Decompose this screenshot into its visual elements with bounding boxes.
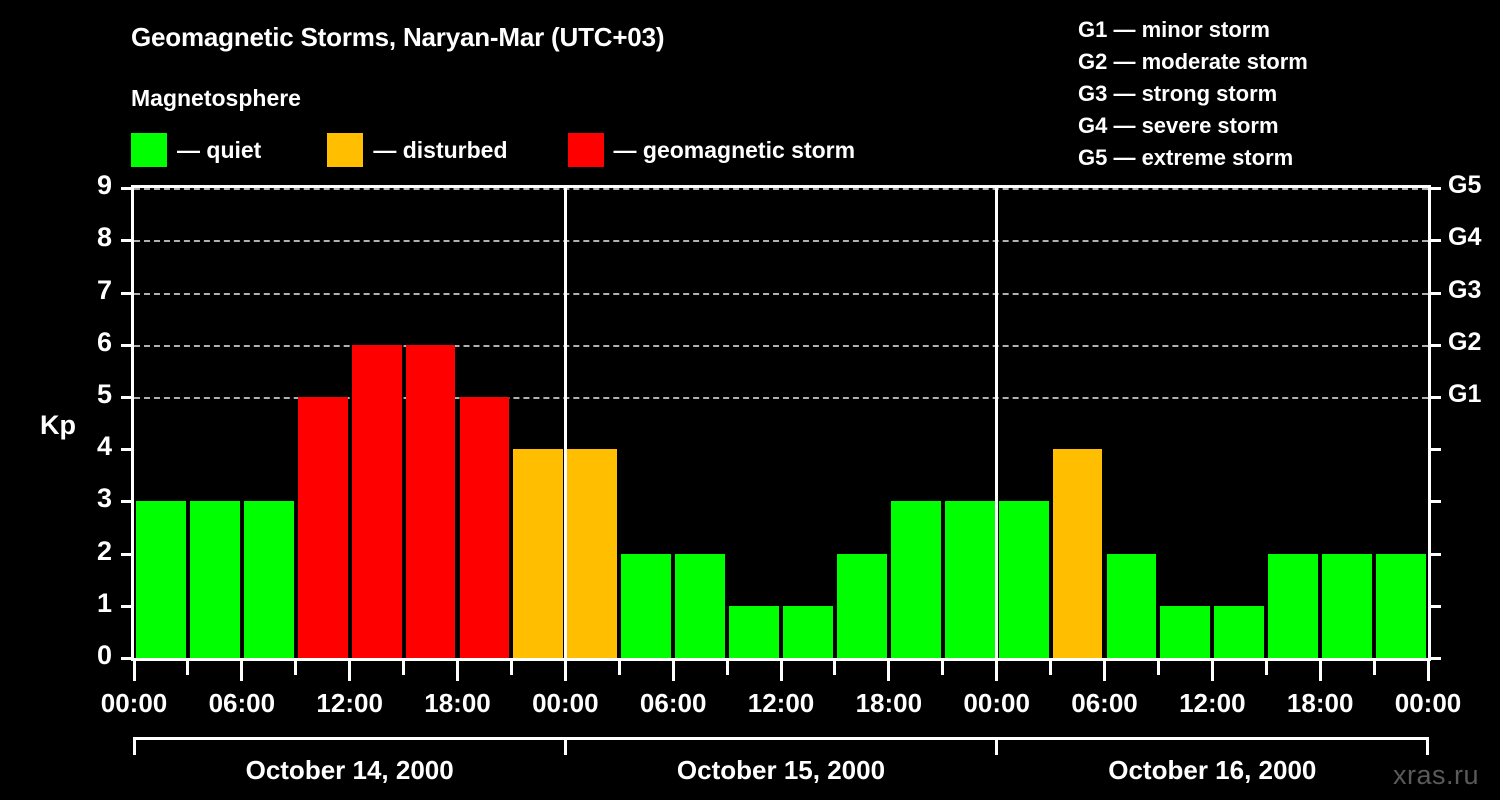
day-separator <box>995 188 998 658</box>
x-axis-tick <box>618 661 621 675</box>
x-axis-tick <box>1049 661 1052 675</box>
y-axis-tick <box>121 187 131 190</box>
bar <box>460 397 510 658</box>
g-scale-axis-label: G3 <box>1448 276 1500 305</box>
x-axis-tick <box>348 661 351 681</box>
day-separator <box>564 188 567 658</box>
x-axis-tick <box>1265 661 1268 675</box>
y-axis-tick <box>121 500 131 503</box>
g-scale-axis-label: G4 <box>1448 223 1500 252</box>
y-axis-tick-right <box>1431 292 1441 295</box>
y-axis-tick <box>121 239 131 242</box>
bar <box>1107 554 1157 658</box>
gridline <box>134 188 1428 190</box>
g-scale-legend-line: G4 — severe storm <box>1078 110 1308 142</box>
y-axis-label: 5 <box>82 379 112 410</box>
y-axis-label: 7 <box>82 275 112 306</box>
g-scale-legend: G1 — minor stormG2 — moderate stormG3 — … <box>1078 14 1308 174</box>
x-axis-tick <box>564 661 567 681</box>
x-axis-tick <box>887 661 890 681</box>
bar <box>945 501 995 658</box>
legend-item-label: — quiet <box>177 137 261 164</box>
y-axis-label: 9 <box>82 170 112 201</box>
watermark: xras.ru <box>1393 760 1479 791</box>
x-axis-tick <box>1157 661 1160 675</box>
x-axis-tick <box>1211 661 1214 681</box>
gridline <box>134 240 1428 242</box>
day-bracket <box>133 737 567 755</box>
x-axis-tick <box>833 661 836 675</box>
x-axis-label: 00:00 <box>1358 688 1498 719</box>
legend-item-label: — geomagnetic storm <box>614 137 856 164</box>
bar <box>298 397 348 658</box>
y-axis-title: Kp <box>40 410 76 441</box>
x-axis-tick <box>510 661 513 675</box>
bar <box>352 345 402 658</box>
page-title: Geomagnetic Storms, Naryan-Mar (UTC+03) <box>131 22 664 53</box>
bar <box>244 501 294 658</box>
legend-item: — disturbed <box>327 132 507 168</box>
bar <box>513 449 563 658</box>
green-swatch <box>131 133 167 167</box>
bar <box>1214 606 1264 658</box>
bar <box>190 501 240 658</box>
bar <box>1160 606 1210 658</box>
y-axis-label: 3 <box>82 483 112 514</box>
orange-swatch <box>327 133 363 167</box>
magnetosphere-section-label: Magnetosphere <box>131 85 301 112</box>
day-label: October 14, 2000 <box>134 755 565 786</box>
y-axis-tick-right <box>1431 657 1441 660</box>
g-scale-axis-label: G5 <box>1448 171 1500 200</box>
x-axis-tick <box>780 661 783 681</box>
bar <box>136 501 186 658</box>
legend-item: — geomagnetic storm <box>568 132 856 168</box>
bar <box>621 554 671 658</box>
y-axis-label: 0 <box>82 640 112 671</box>
y-axis-label: 4 <box>82 431 112 462</box>
day-bracket <box>995 737 1429 755</box>
g-scale-axis-label: G1 <box>1448 380 1500 409</box>
x-axis-tick <box>456 661 459 681</box>
day-bracket <box>564 737 998 755</box>
legend-item-label: — disturbed <box>373 137 507 164</box>
g-scale-legend-line: G3 — strong storm <box>1078 78 1308 110</box>
x-axis-tick <box>240 661 243 681</box>
legend-item: — quiet <box>131 132 261 168</box>
bar <box>1322 554 1372 658</box>
y-axis-label: 1 <box>82 588 112 619</box>
gridline <box>134 345 1428 347</box>
y-axis-tick-right <box>1431 500 1441 503</box>
day-label: October 15, 2000 <box>565 755 996 786</box>
x-axis-tick <box>941 661 944 675</box>
bar <box>783 606 833 658</box>
y-axis-tick-right <box>1431 553 1441 556</box>
y-axis-tick <box>121 292 131 295</box>
x-axis-tick <box>294 661 297 675</box>
x-axis-tick <box>186 661 189 675</box>
day-label: October 16, 2000 <box>997 755 1428 786</box>
bar <box>406 345 456 658</box>
y-axis-tick <box>121 553 131 556</box>
g-scale-axis-label: G2 <box>1448 328 1500 357</box>
y-axis-tick <box>121 344 131 347</box>
y-axis-tick-right <box>1431 187 1441 190</box>
g-scale-legend-line: G1 — minor storm <box>1078 14 1308 46</box>
y-axis-tick <box>121 605 131 608</box>
y-axis-tick-right <box>1431 396 1441 399</box>
y-axis-tick-right <box>1431 344 1441 347</box>
bar <box>999 501 1049 658</box>
bar <box>891 501 941 658</box>
plot-area <box>134 188 1428 658</box>
g-scale-legend-line: G5 — extreme storm <box>1078 142 1308 174</box>
bar <box>675 554 725 658</box>
x-axis-tick <box>402 661 405 675</box>
y-axis-tick <box>121 657 131 660</box>
y-axis-tick <box>121 396 131 399</box>
x-axis-tick <box>1319 661 1322 681</box>
g-scale-legend-line: G2 — moderate storm <box>1078 46 1308 78</box>
legend: — quiet— disturbed— geomagnetic storm <box>131 132 855 168</box>
x-axis-tick <box>672 661 675 681</box>
x-axis-tick <box>995 661 998 681</box>
bar <box>1268 554 1318 658</box>
bar <box>1053 449 1103 658</box>
y-axis-label: 6 <box>82 327 112 358</box>
bar <box>567 449 617 658</box>
y-axis-tick <box>121 448 131 451</box>
x-axis-tick <box>726 661 729 675</box>
gridline <box>134 293 1428 295</box>
x-axis-tick <box>1373 661 1376 675</box>
red-swatch <box>568 133 604 167</box>
y-axis-tick-right <box>1431 605 1441 608</box>
y-axis-tick-right <box>1431 239 1441 242</box>
bar <box>1376 554 1426 658</box>
x-axis-tick <box>1427 661 1430 681</box>
y-axis-tick-right <box>1431 448 1441 451</box>
x-axis-tick <box>1103 661 1106 681</box>
y-axis-label: 8 <box>82 222 112 253</box>
bar <box>837 554 887 658</box>
x-axis-tick <box>133 661 136 681</box>
bar <box>729 606 779 658</box>
y-axis-label: 2 <box>82 536 112 567</box>
